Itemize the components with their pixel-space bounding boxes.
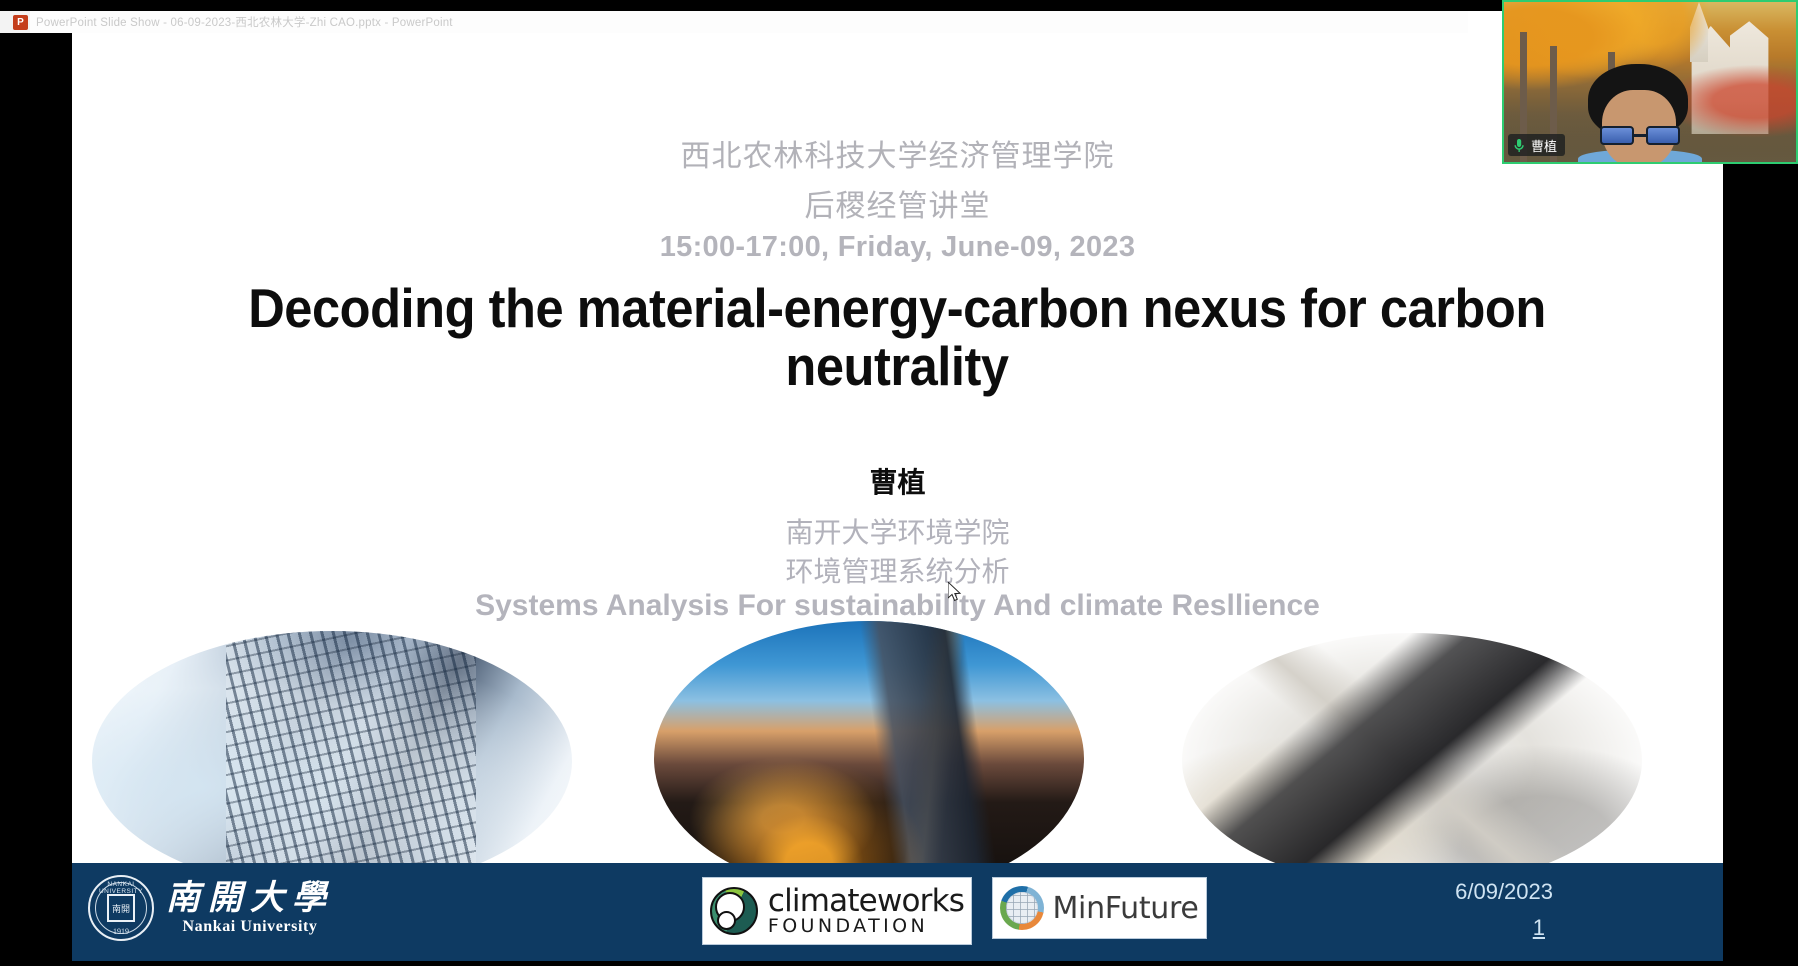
glasses-bridge (1634, 134, 1646, 137)
datetime-line: 15:00-17:00, Friday, June-09, 2023 (72, 231, 1723, 264)
nankai-name-cn: 南開大學 (166, 880, 334, 916)
nankai-university-logo: NANKAI UNIVERSITY 南開 1919 南開大學 Nankai Un… (88, 875, 334, 941)
lecture-series-line: 后稷经管讲堂 (72, 181, 1723, 225)
globe-grid (1006, 892, 1038, 924)
glasses-lens-right (1646, 126, 1680, 145)
slide-footer: NANKAI UNIVERSITY 南開 1919 南開大學 Nankai Un… (72, 863, 1723, 961)
participant-name-label: 曹植 (1531, 136, 1557, 155)
nankai-wordmark: 南開大學 Nankai University (166, 880, 334, 936)
microphone-icon (1512, 137, 1526, 153)
host-institution-line: 西北农林科技大学经济管理学院 (72, 131, 1723, 175)
screen: P PowerPoint Slide Show - 06-09-2023-西北农… (0, 0, 1798, 966)
slide-title: Decoding the material-energy-carbon nexu… (207, 279, 1587, 396)
participant-video-figure (1582, 64, 1694, 164)
minfuture-wordmark: MinFuture (1052, 891, 1198, 926)
minfuture-logo: MinFuture (992, 877, 1207, 939)
globe-icon (1000, 886, 1044, 930)
glasses-lens-left (1600, 126, 1634, 145)
climateworks-wordmark: climateworks FOUNDATION (768, 886, 964, 936)
speaker-name: 曹植 (72, 461, 1723, 501)
nankai-seal-top-text: NANKAI UNIVERSITY (90, 881, 152, 895)
concrete-materials-photo (1182, 633, 1642, 888)
slide-date: 6/09/2023 (1455, 879, 1553, 905)
climateworks-subtitle: FOUNDATION (768, 917, 964, 936)
beijing-skyline-photo (654, 621, 1084, 896)
nankai-seal-icon: NANKAI UNIVERSITY 南開 1919 (88, 875, 154, 941)
nankai-seal-center: 南開 (107, 894, 135, 922)
speaker-affiliation-2: 环境管理系统分析 (72, 550, 1723, 590)
powerpoint-icon: P (13, 15, 28, 30)
webcam-video-overlay[interactable]: 曹植 (1502, 0, 1798, 164)
participant-glasses (1600, 126, 1680, 146)
participant-name-badge: 曹植 (1508, 134, 1565, 156)
nankai-seal-year: 1919 (90, 927, 152, 936)
climateworks-name: climateworks (768, 886, 964, 917)
presentation-slide[interactable]: 西北农林科技大学经济管理学院 后稷经管讲堂 15:00-17:00, Frida… (72, 33, 1723, 961)
industrial-plant-photo (92, 631, 572, 891)
nankai-name-en: Nankai University (166, 918, 334, 936)
window-title: PowerPoint Slide Show - 06-09-2023-西北农林大… (36, 14, 453, 30)
research-group-name: Systems Analysis For sustainability And … (72, 589, 1723, 623)
speaker-affiliation-1: 南开大学环境学院 (72, 511, 1723, 551)
climateworks-circle-icon (710, 887, 758, 935)
slide-page-number: 1 (1533, 915, 1545, 941)
climateworks-foundation-logo: climateworks FOUNDATION (702, 877, 972, 945)
